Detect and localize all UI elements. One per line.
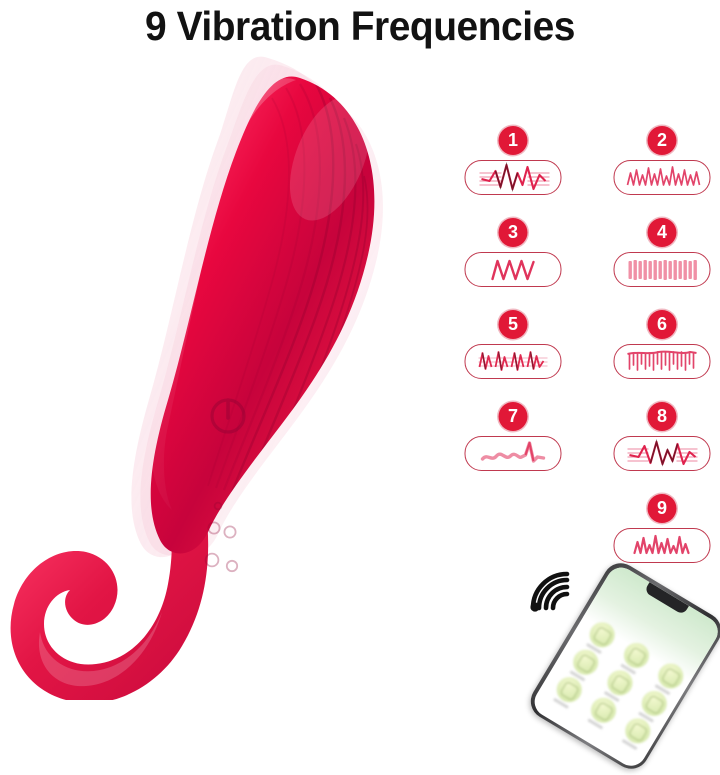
badge-number: 7 <box>499 402 528 431</box>
badge-number: 4 <box>648 218 677 247</box>
frequency-badge-6[interactable]: 6 <box>604 310 720 398</box>
frequency-badge-4[interactable]: 4 <box>604 218 720 306</box>
frequency-badge-7[interactable]: 7 <box>455 402 571 490</box>
waveform-rounded-wave-peaks-icon <box>614 528 711 563</box>
product-image <box>0 40 470 700</box>
frequency-badge-3[interactable]: 3 <box>455 218 571 306</box>
badge-number: 5 <box>499 310 528 339</box>
waveform-wide-zigzag-icon <box>465 252 562 287</box>
waveform-sharp-peaks-with-streaks-icon <box>614 436 711 471</box>
frequency-badge-8[interactable]: 8 <box>604 402 720 490</box>
frequency-badge-2[interactable]: 2 <box>604 126 720 214</box>
waveform-solid-block-pulse-icon <box>614 252 711 287</box>
badge-number: 1 <box>499 126 528 155</box>
frequency-badge-1[interactable]: 1 <box>455 126 571 214</box>
badge-number: 2 <box>648 126 677 155</box>
waveform-dense-zigzag-icon <box>614 160 711 195</box>
badge-number: 6 <box>648 310 677 339</box>
waveform-ripple-then-peak-icon <box>465 436 562 471</box>
waveform-hanging-down-spikes-icon <box>614 344 711 379</box>
badge-number: 9 <box>648 494 677 523</box>
product-feature-image: 9 Vibration Frequencies <box>0 0 720 720</box>
frequency-badge-5[interactable]: 5 <box>455 310 571 398</box>
wifi-signal-icon <box>523 564 577 614</box>
product-illustration <box>0 40 470 700</box>
waveform-clustered-spikes-icon <box>465 344 562 379</box>
phone-app-illustration <box>515 560 720 720</box>
frequency-badge-grid: 1 2 3 <box>455 126 720 581</box>
waveform-spiky-burst-with-streaks-icon <box>465 160 562 195</box>
badge-number: 8 <box>648 402 677 431</box>
badge-number: 3 <box>499 218 528 247</box>
